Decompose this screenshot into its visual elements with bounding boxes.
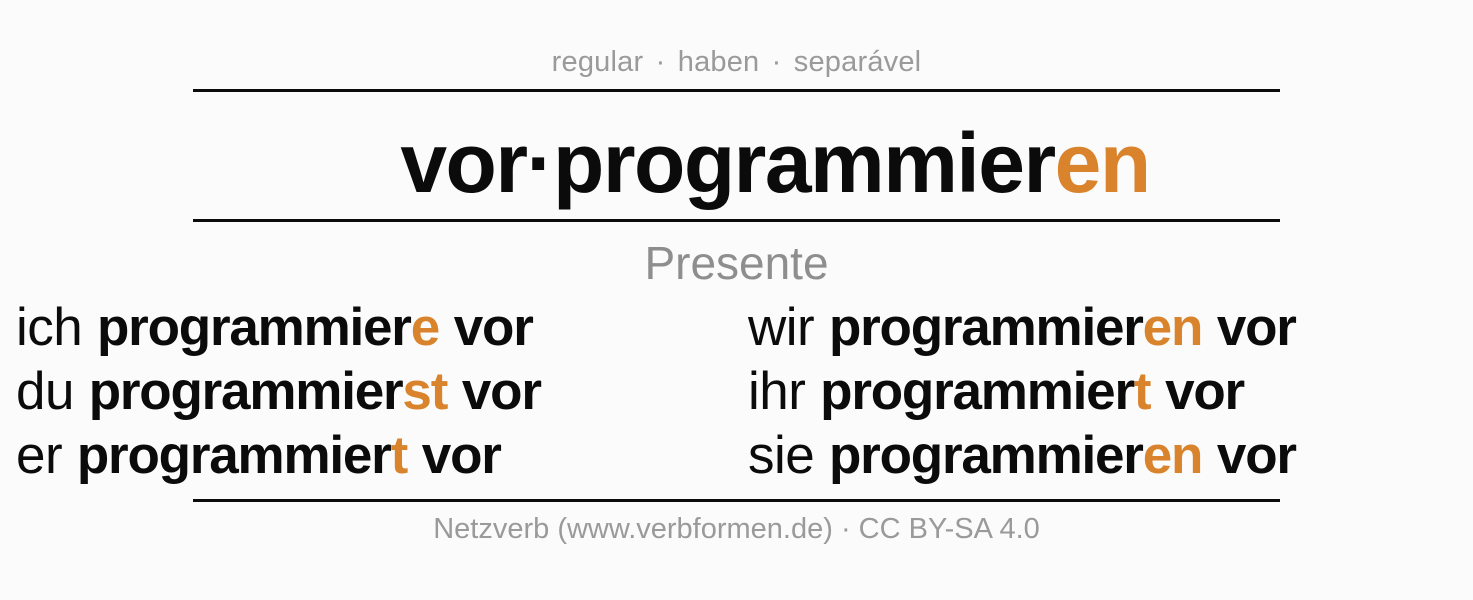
divider-top [193,89,1280,92]
verb-conjugation-card: regular · haben · separável vor·programm… [0,0,1473,600]
verb-ending: st [402,362,447,421]
verb-particle: vor [1217,298,1296,357]
conjugation-row: du programmierst vor [16,360,736,424]
footer-attribution: Netzverb (www.verbformen.de) · CC BY-SA … [0,513,1473,546]
divider-middle [193,219,1280,222]
meta-separator-2: · [768,46,786,78]
tense-subtitle: Presente [0,236,1473,290]
verb-particle: vor [454,298,533,357]
conjugation-table: ich programmiere vor du programmierst vo… [0,296,1473,496]
attribute-auxiliary: haben [678,46,760,78]
conjugation-column-plural: wir programmieren vor ihr programmiert v… [748,296,1468,488]
conjugation-row: wir programmieren vor [748,296,1468,360]
verb-stem: programmier [829,426,1143,485]
verb-ending: t [1134,362,1150,421]
german-flag-icon [323,134,386,197]
verb-ending: en [1143,298,1202,357]
verb-attributes: regular · haben · separável [0,46,1473,79]
divider-bottom [193,499,1280,502]
pronoun: ihr [748,362,805,421]
meta-separator-1: · [652,46,670,78]
verb-ending: en [1143,426,1202,485]
attribute-regular: regular [552,46,644,78]
conjugation-row: er programmiert vor [16,424,736,488]
verb-stem: programmier [820,362,1134,421]
attribute-separable: separável [794,46,922,78]
page-title: vor·programmieren [400,121,1149,205]
verb-particle: vor [462,362,541,421]
verb-stem: programmier [829,298,1143,357]
verb-ending: t [391,426,407,485]
pronoun: du [16,362,74,421]
verb-particle: vor [1217,426,1296,485]
conjugation-row: ich programmiere vor [16,296,736,360]
title-stem: vor·programmier [400,116,1054,210]
verb-particle: vor [1165,362,1244,421]
pronoun: wir [748,298,814,357]
conjugation-row: sie programmieren vor [748,424,1468,488]
verb-particle: vor [422,426,501,485]
conjugation-row: ihr programmiert vor [748,360,1468,424]
verb-ending: e [411,298,439,357]
verb-stem: programmier [89,362,403,421]
verb-title-row: vor·programmieren [0,109,1473,217]
title-suffix: en [1055,116,1150,210]
verb-stem: programmier [77,426,391,485]
pronoun: ich [16,298,82,357]
pronoun: sie [748,426,814,485]
pronoun: er [16,426,62,485]
verb-stem: programmier [97,298,411,357]
conjugation-column-singular: ich programmiere vor du programmierst vo… [16,296,736,488]
